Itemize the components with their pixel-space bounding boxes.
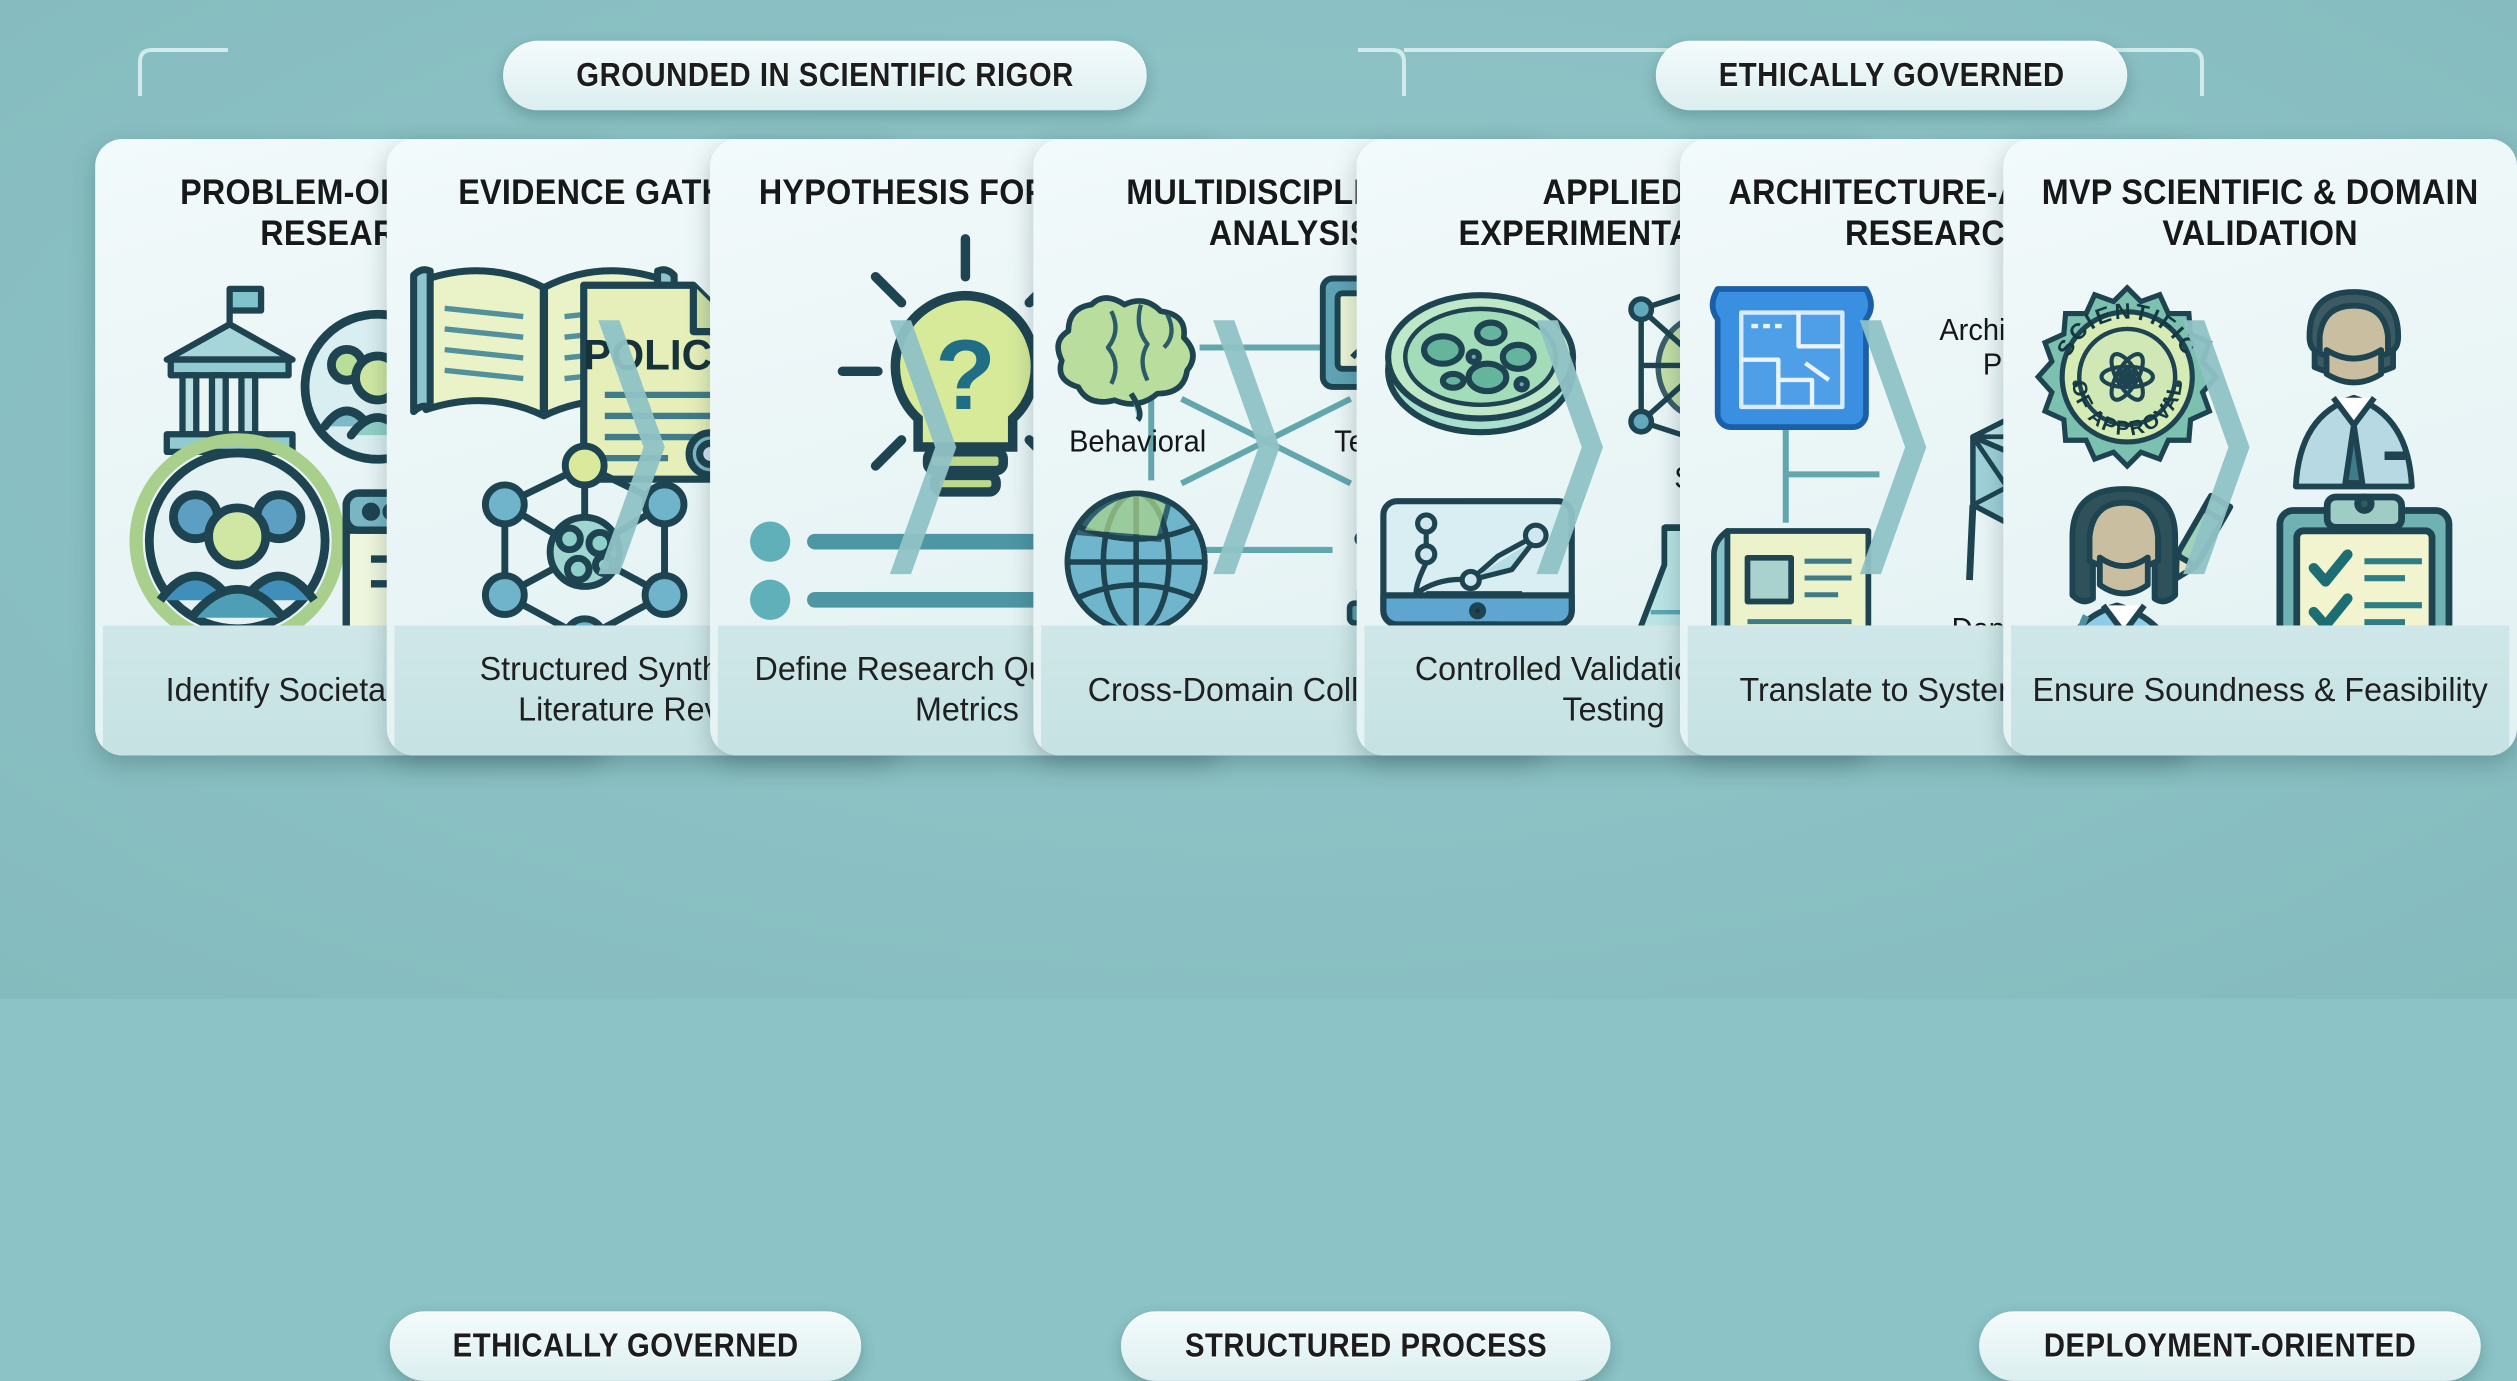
male-expert-icon — [2257, 275, 2450, 487]
card-caption: Ensure Soundness & Feasibility — [2011, 625, 2509, 755]
bottom-label-deployment-oriented: DEPLOYMENT-ORIENTED — [1979, 1311, 2481, 1380]
approval-seal-icon: SCIENTIFIC OF APPROVAL — [2024, 281, 2229, 486]
blueprint-icon — [1704, 275, 1879, 441]
pill-text: ETHICALLY GOVERNED — [1719, 56, 2065, 95]
pill-text: GROUNDED IN SCIENTIFIC RIGOR — [576, 56, 1074, 95]
card-mvp-scientific-domain-validation[interactable]: MVP SCIENTIFIC & DOMAIN VALIDATION — [2003, 139, 2517, 755]
checklist-clipboard-icon — [2269, 484, 2459, 626]
globe-icon — [1058, 484, 1215, 626]
bottom-label-structured-process: STRUCTURED PROCESS — [1121, 1311, 1611, 1380]
molecule-network-icon — [441, 440, 728, 626]
card-artwork: SCIENTIFIC OF APPROVAL — [2003, 254, 2517, 625]
people-circle-icon — [116, 420, 358, 625]
pill-text: DEPLOYMENT-ORIENTED — [2044, 1326, 2417, 1365]
art-label-behavioral: Behavioral — [1043, 426, 1232, 461]
card-title: MVP SCIENTIFIC & DOMAIN VALIDATION — [2021, 139, 2499, 254]
top-label-ethically-governed: ETHICALLY GOVERNED — [1656, 41, 2128, 110]
monitor-robotarm-icon — [1375, 493, 1580, 626]
top-label-grounded-in-scientific-rigor: GROUNDED IN SCIENTIFIC RIGOR — [503, 41, 1147, 110]
female-scientist-icon — [2024, 472, 2229, 626]
question-mark-glyph: ? — [935, 320, 996, 431]
playbook-book-icon — [1707, 520, 1888, 625]
brain-icon — [1055, 275, 1221, 420]
infographic-canvas: GROUNDED IN SCIENTIFIC RIGOR ETHICALLY G… — [0, 0, 2517, 999]
pill-text: STRUCTURED PROCESS — [1185, 1326, 1547, 1365]
bottom-label-ethically-governed: ETHICALLY GOVERNED — [390, 1311, 862, 1380]
pill-text: ETHICALLY GOVERNED — [453, 1326, 799, 1365]
petri-dish-icon — [1378, 278, 1583, 456]
